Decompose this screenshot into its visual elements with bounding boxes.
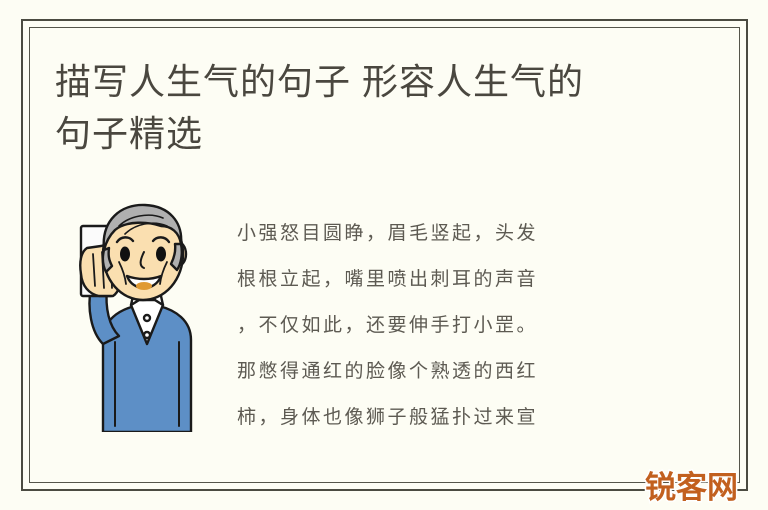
body-line-4: 那憋得通红的脸像个熟透的西红 bbox=[237, 348, 657, 394]
title-line-1: 描写人生气的句子 形容人生气的 bbox=[55, 56, 675, 108]
content-row: 小强怒目圆睁，眉毛竖起，头发 根根立起，嘴里喷出刺耳的声音 ，不仅如此，还要伸手… bbox=[55, 192, 695, 442]
elderly-man-illustration bbox=[63, 192, 223, 432]
body-line-1: 小强怒目圆睁，眉毛竖起，头发 bbox=[237, 210, 657, 256]
body-line-5: 柿，身体也像狮子般猛扑过来宣 bbox=[237, 394, 657, 440]
body-line-2: 根根立起，嘴里喷出刺耳的声音 bbox=[237, 256, 657, 302]
body-line-3: ，不仅如此，还要伸手打小罡。 bbox=[237, 302, 657, 348]
site-watermark: 锐客网 bbox=[645, 470, 738, 506]
watermark-text: 锐客网 bbox=[645, 470, 738, 506]
page-root: 描写人生气的句子 形容人生气的 句子精选 bbox=[0, 0, 768, 510]
page-title: 描写人生气的句子 形容人生气的 句子精选 bbox=[55, 56, 675, 160]
article-body: 小强怒目圆睁，眉毛竖起，头发 根根立起，嘴里喷出刺耳的声音 ，不仅如此，还要伸手… bbox=[237, 210, 657, 440]
title-line-2: 句子精选 bbox=[55, 108, 675, 160]
